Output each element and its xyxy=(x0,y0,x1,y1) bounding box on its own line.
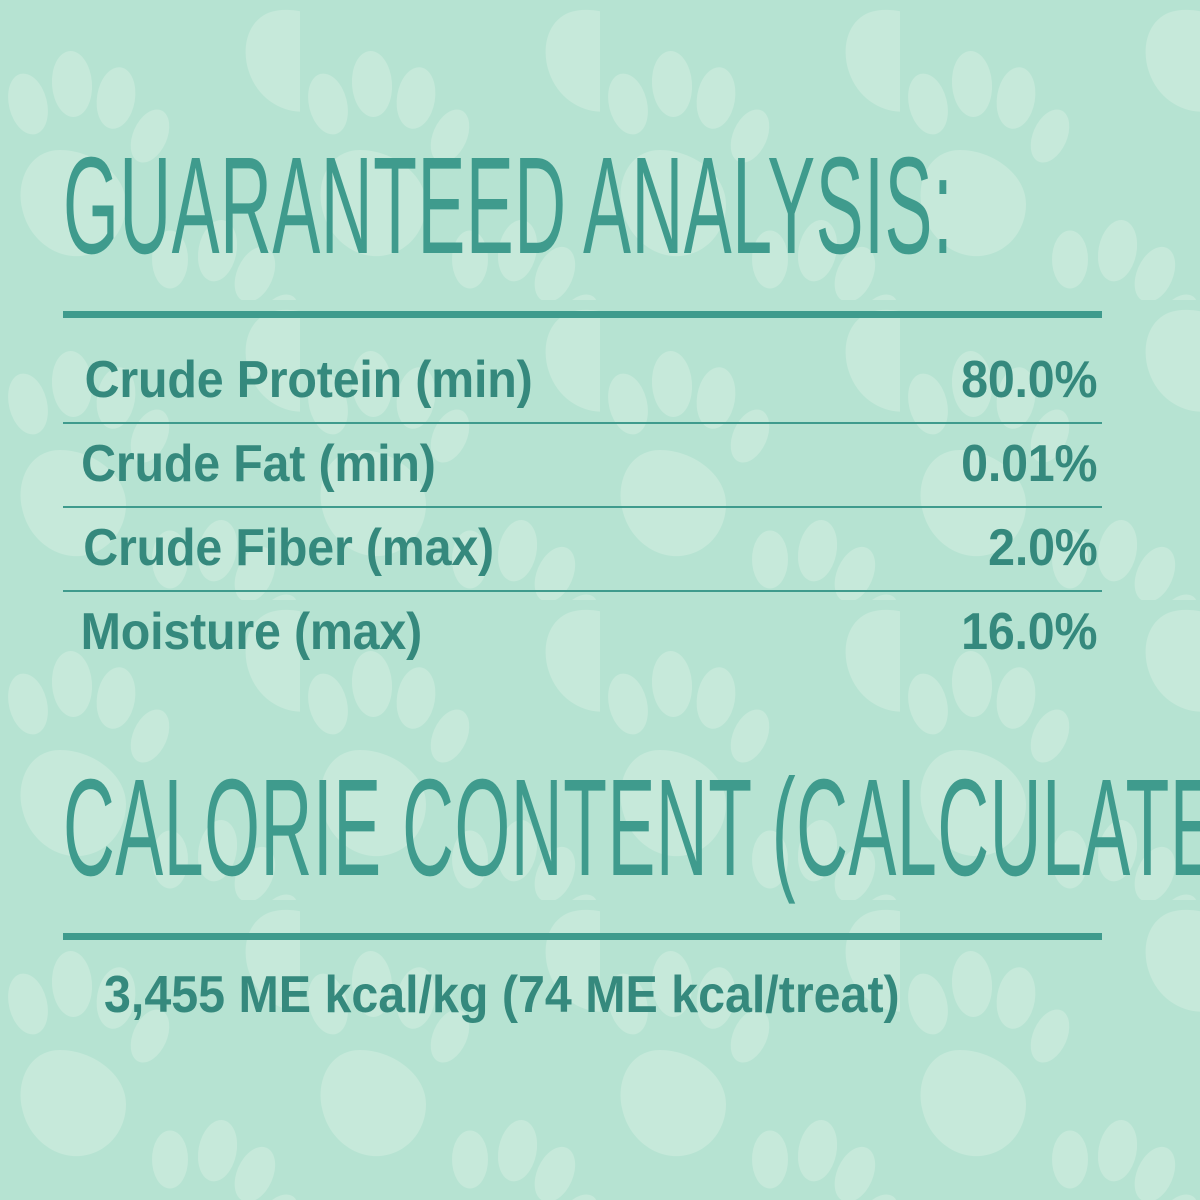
calorie-content-section: CALORIE CONTENT (CALCULATED): xyxy=(63,772,1102,885)
divider-thick xyxy=(63,311,1102,318)
nutrition-panel: GUARANTEED ANALYSIS: Crude Protein (min)… xyxy=(0,0,1200,1200)
row-label: Crude Fat (min) xyxy=(77,438,436,491)
row-label: Moisture (max) xyxy=(76,606,422,659)
guaranteed-analysis-top-rule xyxy=(63,311,1102,318)
table-row: Crude Fat (min) 0.01% xyxy=(63,424,1102,506)
guaranteed-analysis-heading: GUARANTEED ANALYSIS: xyxy=(63,150,603,263)
row-label: Crude Fiber (max) xyxy=(79,522,494,575)
table-row: Crude Fiber (max) 2.0% xyxy=(63,508,1102,590)
divider-thick xyxy=(63,933,1102,940)
row-value: 0.01% xyxy=(961,438,1097,491)
table-row: Moisture (max) 16.0% xyxy=(63,592,1102,674)
calorie-content-value-row: 3,455 ME kcal/kg (74 ME kcal/treat) xyxy=(63,968,1102,1023)
calorie-content-heading: CALORIE CONTENT (CALCULATED): xyxy=(63,772,603,885)
row-value: 2.0% xyxy=(988,522,1097,575)
row-value: 16.0% xyxy=(961,606,1097,659)
row-value: 80.0% xyxy=(961,354,1097,407)
guaranteed-analysis-section: GUARANTEED ANALYSIS: xyxy=(63,150,1102,263)
guaranteed-analysis-table: Crude Protein (min) 80.0% Crude Fat (min… xyxy=(63,340,1102,674)
calorie-content-value: 3,455 ME kcal/kg (74 ME kcal/treat) xyxy=(99,968,1065,1023)
row-label: Crude Protein (min) xyxy=(80,354,532,407)
calorie-content-top-rule xyxy=(63,933,1102,940)
table-row: Crude Protein (min) 80.0% xyxy=(63,340,1102,422)
